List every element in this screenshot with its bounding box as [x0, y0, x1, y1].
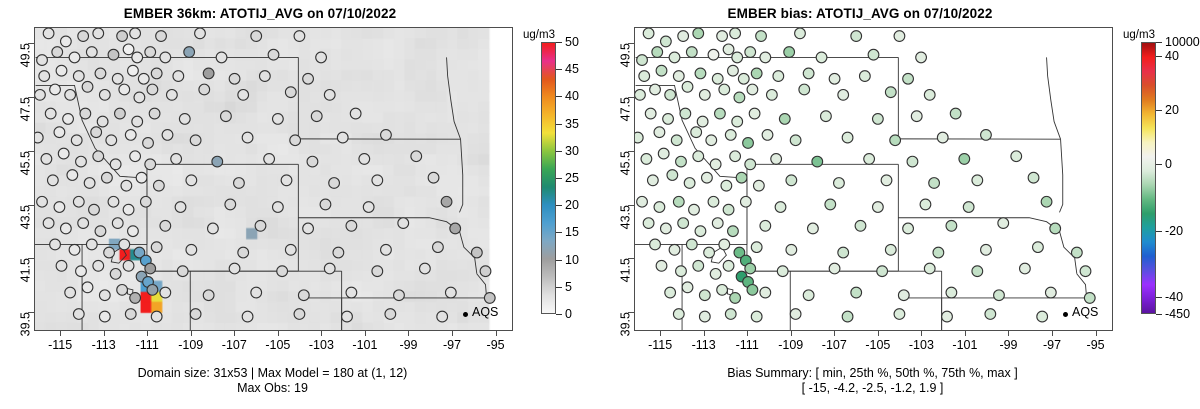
station-marker[interactable]: [145, 47, 156, 58]
station-marker[interactable]: [894, 31, 905, 42]
station-marker[interactable]: [652, 47, 663, 58]
station-marker[interactable]: [294, 309, 305, 320]
station-marker[interactable]: [285, 87, 296, 98]
station-marker[interactable]: [803, 290, 814, 301]
station-marker[interactable]: [972, 266, 983, 277]
station-marker[interactable]: [873, 202, 884, 213]
station-marker[interactable]: [643, 28, 654, 39]
model-colorbar[interactable]: [541, 42, 556, 314]
station-marker[interactable]: [342, 311, 353, 322]
station-marker[interactable]: [745, 263, 756, 274]
station-marker[interactable]: [728, 226, 739, 237]
station-marker[interactable]: [704, 247, 715, 258]
station-marker[interactable]: [779, 114, 790, 125]
station-marker[interactable]: [1033, 242, 1044, 253]
station-marker[interactable]: [834, 178, 845, 189]
station-marker[interactable]: [130, 28, 141, 39]
station-marker[interactable]: [175, 202, 186, 213]
station-marker[interactable]: [56, 65, 67, 76]
station-marker[interactable]: [771, 154, 782, 165]
station-marker[interactable]: [372, 175, 383, 186]
station-marker[interactable]: [751, 242, 762, 253]
station-marker[interactable]: [171, 154, 182, 165]
station-marker[interactable]: [229, 73, 240, 84]
station-marker[interactable]: [41, 154, 52, 165]
station-marker[interactable]: [1084, 293, 1095, 304]
station-marker[interactable]: [130, 151, 141, 162]
station-marker[interactable]: [45, 108, 56, 119]
station-marker[interactable]: [86, 47, 97, 58]
station-marker[interactable]: [52, 47, 63, 58]
station-marker[interactable]: [333, 247, 344, 258]
station-marker[interactable]: [110, 269, 121, 280]
station-marker[interactable]: [667, 170, 678, 181]
station-marker[interactable]: [762, 130, 773, 141]
station-marker[interactable]: [450, 223, 461, 234]
station-marker[interactable]: [43, 28, 54, 39]
station-marker[interactable]: [985, 309, 996, 320]
station-marker[interactable]: [128, 65, 139, 76]
station-marker[interactable]: [484, 293, 495, 304]
station-marker[interactable]: [710, 159, 721, 170]
station-marker[interactable]: [730, 151, 741, 162]
station-marker[interactable]: [54, 127, 65, 138]
station-marker[interactable]: [186, 244, 197, 255]
station-marker[interactable]: [658, 148, 669, 159]
station-marker[interactable]: [102, 172, 113, 183]
station-marker[interactable]: [767, 89, 778, 100]
station-marker[interactable]: [177, 266, 188, 277]
station-marker[interactable]: [665, 89, 676, 100]
station-marker[interactable]: [190, 135, 201, 146]
station-marker[interactable]: [790, 135, 801, 146]
station-marker[interactable]: [93, 151, 104, 162]
bias-map-plot[interactable]: AQS: [634, 27, 1113, 331]
station-marker[interactable]: [933, 247, 944, 258]
station-marker[interactable]: [91, 127, 102, 138]
station-marker[interactable]: [645, 108, 656, 119]
station-marker[interactable]: [471, 247, 482, 258]
bias-colorbar[interactable]: [1141, 42, 1156, 314]
station-marker[interactable]: [93, 260, 104, 271]
station-marker[interactable]: [394, 290, 405, 301]
station-marker[interactable]: [924, 263, 935, 274]
station-marker[interactable]: [864, 154, 875, 165]
station-marker[interactable]: [650, 84, 661, 95]
station-marker[interactable]: [745, 159, 756, 170]
station-marker[interactable]: [160, 220, 171, 231]
station-marker[interactable]: [110, 159, 121, 170]
station-marker[interactable]: [123, 204, 134, 215]
station-marker[interactable]: [654, 202, 665, 213]
station-marker[interactable]: [760, 220, 771, 231]
station-marker[interactable]: [162, 130, 173, 141]
station-marker[interactable]: [441, 196, 452, 207]
station-marker[interactable]: [676, 156, 687, 167]
station-marker[interactable]: [324, 89, 335, 100]
station-marker[interactable]: [381, 130, 392, 141]
station-marker[interactable]: [998, 218, 1009, 229]
station-marker[interactable]: [686, 239, 697, 250]
station-marker[interactable]: [480, 266, 491, 277]
station-marker[interactable]: [324, 263, 335, 274]
station-marker[interactable]: [160, 287, 171, 298]
station-marker[interactable]: [147, 84, 158, 95]
station-marker[interactable]: [203, 290, 214, 301]
station-marker[interactable]: [719, 239, 730, 250]
station-marker[interactable]: [929, 178, 940, 189]
station-marker[interactable]: [838, 247, 849, 258]
station-marker[interactable]: [816, 52, 827, 63]
station-marker[interactable]: [132, 116, 143, 127]
station-marker[interactable]: [212, 156, 223, 167]
station-marker[interactable]: [82, 81, 93, 92]
station-marker[interactable]: [128, 226, 139, 237]
station-marker[interactable]: [123, 260, 134, 271]
station-marker[interactable]: [715, 108, 726, 119]
station-marker[interactable]: [255, 220, 266, 231]
station-marker[interactable]: [73, 309, 84, 320]
station-marker[interactable]: [825, 199, 836, 210]
station-marker[interactable]: [890, 135, 901, 146]
station-marker[interactable]: [671, 135, 682, 146]
station-marker[interactable]: [61, 223, 72, 234]
station-marker[interactable]: [78, 31, 89, 42]
station-marker[interactable]: [132, 52, 143, 63]
station-marker[interactable]: [829, 263, 840, 274]
station-marker[interactable]: [907, 156, 918, 167]
station-marker[interactable]: [740, 196, 751, 207]
station-marker[interactable]: [242, 311, 253, 322]
station-marker[interactable]: [108, 196, 119, 207]
station-marker[interactable]: [320, 199, 331, 210]
station-marker[interactable]: [981, 244, 992, 255]
station-marker[interactable]: [346, 287, 357, 298]
station-marker[interactable]: [708, 196, 719, 207]
station-marker[interactable]: [47, 175, 58, 186]
station-marker[interactable]: [145, 159, 156, 170]
station-marker[interactable]: [654, 127, 665, 138]
station-marker[interactable]: [445, 287, 456, 298]
station-marker[interactable]: [725, 130, 736, 141]
station-marker[interactable]: [238, 247, 249, 258]
model-map-plot[interactable]: AQS: [34, 27, 513, 331]
station-marker[interactable]: [1080, 266, 1091, 277]
station-marker[interactable]: [195, 28, 206, 39]
station-marker[interactable]: [35, 89, 45, 100]
station-marker[interactable]: [242, 132, 253, 143]
station-marker[interactable]: [661, 36, 672, 47]
station-marker[interactable]: [112, 73, 123, 84]
station-marker[interactable]: [1050, 223, 1061, 234]
station-marker[interactable]: [95, 68, 106, 79]
station-marker[interactable]: [50, 84, 61, 95]
station-marker[interactable]: [673, 196, 684, 207]
station-marker[interactable]: [916, 52, 927, 63]
station-marker[interactable]: [117, 31, 128, 42]
station-marker[interactable]: [143, 138, 154, 149]
station-marker[interactable]: [69, 244, 80, 255]
station-marker[interactable]: [950, 108, 961, 119]
station-marker[interactable]: [203, 68, 214, 79]
station-marker[interactable]: [842, 132, 853, 143]
station-marker[interactable]: [285, 244, 296, 255]
station-marker[interactable]: [855, 220, 866, 231]
station-marker[interactable]: [699, 311, 710, 322]
station-marker[interactable]: [784, 47, 795, 58]
station-marker[interactable]: [238, 89, 249, 100]
station-marker[interactable]: [647, 175, 658, 186]
station-marker[interactable]: [123, 44, 134, 55]
station-marker[interactable]: [298, 290, 309, 301]
station-marker[interactable]: [216, 52, 227, 63]
station-marker[interactable]: [346, 220, 357, 231]
station-marker[interactable]: [67, 170, 78, 181]
station-marker[interactable]: [725, 309, 736, 320]
station-marker[interactable]: [95, 226, 106, 237]
station-marker[interactable]: [82, 282, 93, 293]
station-marker[interactable]: [65, 89, 76, 100]
station-marker[interactable]: [803, 68, 814, 79]
station-marker[interactable]: [635, 89, 645, 100]
station-marker[interactable]: [199, 84, 210, 95]
station-marker[interactable]: [125, 130, 136, 141]
station-marker[interactable]: [140, 196, 151, 207]
station-marker[interactable]: [838, 89, 849, 100]
station-marker[interactable]: [184, 47, 195, 58]
station-marker[interactable]: [229, 263, 240, 274]
station-marker[interactable]: [1020, 263, 1031, 274]
station-marker[interactable]: [259, 71, 270, 82]
station-marker[interactable]: [786, 175, 797, 186]
station-marker[interactable]: [942, 311, 953, 322]
station-marker[interactable]: [777, 266, 788, 277]
station-marker[interactable]: [790, 309, 801, 320]
station-marker[interactable]: [723, 204, 734, 215]
station-marker[interactable]: [706, 135, 717, 146]
station-marker[interactable]: [99, 290, 110, 301]
station-marker[interactable]: [885, 87, 896, 98]
station-marker[interactable]: [873, 114, 884, 125]
station-marker[interactable]: [63, 114, 74, 125]
station-marker[interactable]: [963, 202, 974, 213]
station-marker[interactable]: [39, 71, 50, 82]
station-marker[interactable]: [851, 287, 862, 298]
station-marker[interactable]: [959, 154, 970, 165]
station-marker[interactable]: [225, 199, 236, 210]
station-marker[interactable]: [58, 148, 69, 159]
station-marker[interactable]: [50, 239, 61, 250]
station-marker[interactable]: [691, 127, 702, 138]
station-marker[interactable]: [273, 114, 284, 125]
station-marker[interactable]: [693, 28, 704, 39]
station-marker[interactable]: [134, 92, 145, 103]
station-marker[interactable]: [637, 55, 648, 66]
station-marker[interactable]: [117, 285, 128, 296]
station-marker[interactable]: [99, 311, 110, 322]
station-marker[interactable]: [641, 154, 652, 165]
station-marker[interactable]: [669, 244, 680, 255]
station-marker[interactable]: [639, 71, 650, 82]
station-marker[interactable]: [311, 111, 322, 122]
station-marker[interactable]: [717, 285, 728, 296]
station-marker[interactable]: [420, 263, 431, 274]
station-marker[interactable]: [108, 49, 119, 60]
station-marker[interactable]: [637, 196, 648, 207]
station-marker[interactable]: [153, 180, 164, 191]
station-marker[interactable]: [868, 49, 879, 60]
station-marker[interactable]: [680, 108, 691, 119]
station-marker[interactable]: [656, 260, 667, 271]
station-marker[interactable]: [119, 239, 130, 250]
station-marker[interactable]: [281, 175, 292, 186]
station-marker[interactable]: [125, 309, 136, 320]
station-marker[interactable]: [37, 196, 48, 207]
station-marker[interactable]: [885, 244, 896, 255]
station-marker[interactable]: [747, 285, 758, 296]
station-marker[interactable]: [903, 223, 914, 234]
station-marker[interactable]: [898, 290, 909, 301]
station-marker[interactable]: [411, 151, 422, 162]
station-marker[interactable]: [937, 132, 948, 143]
station-marker[interactable]: [76, 266, 87, 277]
station-marker[interactable]: [37, 55, 48, 66]
station-marker[interactable]: [115, 108, 126, 119]
station-marker[interactable]: [372, 266, 383, 277]
station-marker[interactable]: [678, 31, 689, 42]
station-marker[interactable]: [689, 204, 700, 215]
station-marker[interactable]: [84, 178, 95, 189]
station-marker[interactable]: [359, 154, 370, 165]
station-marker[interactable]: [381, 244, 392, 255]
station-marker[interactable]: [728, 65, 739, 76]
station-marker[interactable]: [877, 266, 888, 277]
station-marker[interactable]: [167, 89, 178, 100]
station-marker[interactable]: [673, 309, 684, 320]
station-marker[interactable]: [186, 175, 197, 186]
station-marker[interactable]: [693, 151, 704, 162]
station-marker[interactable]: [747, 84, 758, 95]
station-marker[interactable]: [721, 180, 732, 191]
station-marker[interactable]: [80, 108, 91, 119]
station-marker[interactable]: [273, 202, 284, 213]
station-marker[interactable]: [1041, 196, 1052, 207]
station-marker[interactable]: [756, 31, 767, 42]
station-marker[interactable]: [829, 73, 840, 84]
station-marker[interactable]: [65, 287, 76, 298]
station-marker[interactable]: [924, 89, 935, 100]
station-marker[interactable]: [156, 31, 167, 42]
station-marker[interactable]: [665, 287, 676, 298]
station-marker[interactable]: [786, 244, 797, 255]
station-marker[interactable]: [730, 28, 741, 39]
station-marker[interactable]: [695, 226, 706, 237]
station-marker[interactable]: [1071, 247, 1082, 258]
station-marker[interactable]: [303, 223, 314, 234]
station-marker[interactable]: [130, 293, 141, 304]
station-marker[interactable]: [151, 311, 162, 322]
station-marker[interactable]: [160, 52, 171, 63]
station-marker[interactable]: [697, 116, 708, 127]
station-marker[interactable]: [842, 311, 853, 322]
station-marker[interactable]: [686, 47, 697, 58]
station-marker[interactable]: [994, 290, 1005, 301]
station-marker[interactable]: [851, 31, 862, 42]
station-marker[interactable]: [743, 138, 754, 149]
station-marker[interactable]: [760, 52, 771, 63]
station-marker[interactable]: [795, 28, 806, 39]
station-marker[interactable]: [732, 116, 743, 127]
station-marker[interactable]: [708, 49, 719, 60]
station-marker[interactable]: [93, 28, 104, 39]
station-marker[interactable]: [138, 73, 149, 84]
station-marker[interactable]: [145, 263, 156, 274]
station-marker[interactable]: [71, 135, 82, 146]
station-marker[interactable]: [43, 218, 54, 229]
station-marker[interactable]: [97, 116, 108, 127]
station-marker[interactable]: [251, 287, 262, 298]
station-marker[interactable]: [981, 130, 992, 141]
station-marker[interactable]: [717, 31, 728, 42]
station-marker[interactable]: [972, 175, 983, 186]
station-marker[interactable]: [894, 309, 905, 320]
station-marker[interactable]: [61, 36, 72, 47]
station-marker[interactable]: [112, 218, 123, 229]
station-marker[interactable]: [1028, 172, 1039, 183]
station-marker[interactable]: [946, 220, 957, 231]
station-marker[interactable]: [73, 71, 84, 82]
station-marker[interactable]: [329, 178, 340, 189]
station-marker[interactable]: [684, 178, 695, 189]
station-marker[interactable]: [699, 290, 710, 301]
station-marker[interactable]: [693, 260, 704, 271]
station-marker[interactable]: [760, 287, 771, 298]
station-marker[interactable]: [316, 52, 327, 63]
station-marker[interactable]: [121, 180, 132, 191]
station-marker[interactable]: [821, 111, 832, 122]
station-marker[interactable]: [881, 175, 892, 186]
station-marker[interactable]: [946, 287, 957, 298]
station-marker[interactable]: [151, 68, 162, 79]
station-marker[interactable]: [712, 73, 723, 84]
station-marker[interactable]: [635, 132, 643, 143]
station-marker[interactable]: [337, 132, 348, 143]
station-marker[interactable]: [385, 309, 396, 320]
station-marker[interactable]: [719, 84, 730, 95]
station-marker[interactable]: [723, 260, 734, 271]
station-marker[interactable]: [221, 111, 232, 122]
station-marker[interactable]: [699, 89, 710, 100]
station-marker[interactable]: [1037, 311, 1048, 322]
station-marker[interactable]: [736, 172, 747, 183]
station-marker[interactable]: [208, 223, 219, 234]
station-marker[interactable]: [69, 52, 80, 63]
station-marker[interactable]: [712, 218, 723, 229]
station-marker[interactable]: [753, 180, 764, 191]
station-marker[interactable]: [78, 218, 89, 229]
station-marker[interactable]: [294, 31, 305, 42]
station-marker[interactable]: [682, 282, 693, 293]
station-marker[interactable]: [234, 178, 245, 189]
station-marker[interactable]: [35, 132, 43, 143]
station-marker[interactable]: [136, 172, 147, 183]
station-marker[interactable]: [54, 202, 65, 213]
station-marker[interactable]: [264, 154, 275, 165]
station-marker[interactable]: [99, 89, 110, 100]
station-marker[interactable]: [350, 108, 361, 119]
station-marker[interactable]: [775, 202, 786, 213]
station-marker[interactable]: [179, 114, 190, 125]
